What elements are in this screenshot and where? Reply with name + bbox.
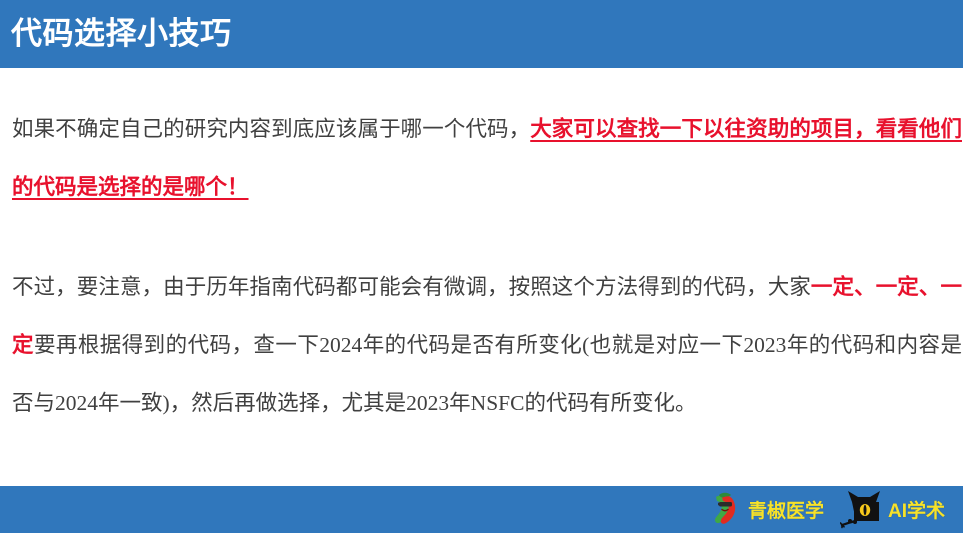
brand-qingjiao-yixue: 青椒医学	[706, 486, 824, 533]
slide-footer-bar: 青椒医学 AI学术	[0, 486, 963, 533]
paragraph-two: 不过，要注意，由于历年指南代码都可能会有微调，按照这个方法得到的代码，大家一定、…	[12, 258, 962, 432]
brand-label-aixueshu: AI学术	[888, 496, 945, 523]
slide-body: 如果不确定自己的研究内容到底应该属于哪一个代码，大家可以查找一下以往资助的项目，…	[0, 68, 963, 486]
paragraph-one: 如果不确定自己的研究内容到底应该属于哪一个代码，大家可以查找一下以往资助的项目，…	[12, 100, 962, 216]
brand-ai-xueshu: AI学术	[840, 486, 945, 533]
paragraph-two-lead-text: 不过，要注意，由于历年指南代码都可能会有微调，按照这个方法得到的代码，大家	[12, 275, 811, 299]
paragraph-two-tail-text: 要再根据得到的代码，查一下2024年的代码是否有所变化(也就是对应一下2023年…	[12, 333, 962, 415]
slide-header-bar: 代码选择小技巧	[0, 0, 963, 68]
slide-canvas: 代码选择小技巧 如果不确定自己的研究内容到底应该属于哪一个代码，大家可以查找一下…	[0, 0, 963, 533]
cat-head-icon	[840, 490, 884, 530]
page-title: 代码选择小技巧	[11, 13, 232, 55]
paragraph-one-lead-text: 如果不确定自己的研究内容到底应该属于哪一个代码，	[12, 117, 530, 141]
chili-pepper-icon	[706, 491, 744, 529]
brand-label-qingjiao: 青椒医学	[748, 496, 824, 523]
